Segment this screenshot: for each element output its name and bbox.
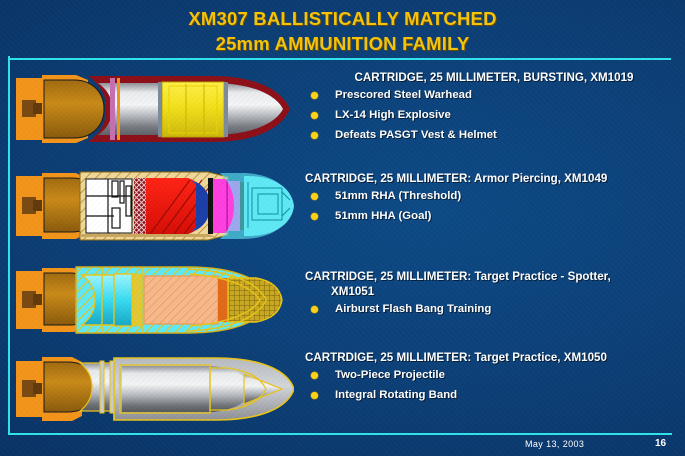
bullet-text: LX-14 High Explosive xyxy=(335,109,451,121)
text-block-xm1051: CARTRIDGE, 25 MILLIMETER: Target Practic… xyxy=(305,269,683,319)
bullet-dot-icon xyxy=(311,112,318,119)
page-title: XM307 BALLISTICALLY MATCHED 25mm AMMUNIT… xyxy=(0,6,685,56)
bullet-text: Airburst Flash Bang Training xyxy=(335,303,491,315)
heading-xm1050-line1: CARTRDIGE, 25 MILLIMETER: Target Practic… xyxy=(305,351,607,364)
divider-bottom-horizontal xyxy=(8,433,672,435)
text-block-xm1050: CARTRDIGE, 25 MILLIMETER: Target Practic… xyxy=(305,350,683,405)
text-block-xm1049: CARTRIDGE, 25 MILLIMETER: Armor Piercing… xyxy=(305,171,683,226)
heading-xm1019-line1: CARTRIDGE, 25 MILLIMETER, BURSTING, XM10… xyxy=(355,71,634,84)
bullet-text: Two-Piece Projectile xyxy=(335,369,445,381)
heading-xm1051-line1: CARTRIDGE, 25 MILLIMETER: Target Practic… xyxy=(305,270,611,283)
bullet-dot-icon xyxy=(311,392,318,399)
bullet-list-xm1019: Prescored Steel Warhead LX-14 High Explo… xyxy=(305,85,683,145)
cartridge-xm1050-target-practice xyxy=(14,355,294,423)
bullet-text: 51mm HHA (Goal) xyxy=(335,210,431,222)
bullet-text: 51mm RHA (Threshold) xyxy=(335,190,461,202)
cartridge-xm1019-bursting xyxy=(14,72,294,146)
bullet-list-xm1051: Airburst Flash Bang Training xyxy=(305,299,683,319)
list-item: Airburst Flash Bang Training xyxy=(305,299,683,319)
heading-xm1049-line1: CARTRIDGE, 25 MILLIMETER: Armor Piercing… xyxy=(305,172,607,185)
text-block-xm1019: CARTRIDGE, 25 MILLIMETER, BURSTING, XM10… xyxy=(305,70,683,145)
cartridge-1-drawing xyxy=(14,72,294,146)
bullet-dot-icon xyxy=(311,306,318,313)
bullet-list-xm1049: 51mm RHA (Threshold) 51mm HHA (Goal) xyxy=(305,186,683,226)
list-item: Defeats PASGT Vest & Helmet xyxy=(305,125,683,145)
title-line-2: 25mm AMMUNITION FAMILY xyxy=(0,31,685,56)
divider-left-vertical xyxy=(8,56,10,434)
bullet-dot-icon xyxy=(311,213,318,220)
cartridge-xm1049-armor-piercing xyxy=(14,170,294,242)
bullet-text: Integral Rotating Band xyxy=(335,389,457,401)
heading-xm1051: CARTRIDGE, 25 MILLIMETER: Target Practic… xyxy=(305,269,683,299)
cartridge-3-drawing xyxy=(14,265,294,335)
list-item: Two-Piece Projectile xyxy=(305,365,683,385)
list-item: LX-14 High Explosive xyxy=(305,105,683,125)
heading-xm1019: CARTRIDGE, 25 MILLIMETER, BURSTING, XM10… xyxy=(305,70,683,85)
slide-canvas: XM307 BALLISTICALLY MATCHED 25mm AMMUNIT… xyxy=(0,0,685,456)
bullet-dot-icon xyxy=(311,372,318,379)
footer-page-number: 16 xyxy=(655,438,666,449)
heading-xm1049: CARTRIDGE, 25 MILLIMETER: Armor Piercing… xyxy=(305,171,683,186)
title-line-1: XM307 BALLISTICALLY MATCHED xyxy=(188,8,496,29)
cartridge-xm1051-target-practice-spotter xyxy=(14,265,294,335)
bullet-dot-icon xyxy=(311,132,318,139)
footer-date: May 13, 2003 xyxy=(525,439,584,449)
bullet-list-xm1050: Two-Piece Projectile Integral Rotating B… xyxy=(305,365,683,405)
list-item: Integral Rotating Band xyxy=(305,385,683,405)
bullet-text: Prescored Steel Warhead xyxy=(335,89,472,101)
bullet-dot-icon xyxy=(311,92,318,99)
list-item: 51mm RHA (Threshold) xyxy=(305,186,683,206)
list-item: 51mm HHA (Goal) xyxy=(305,206,683,226)
list-item: Prescored Steel Warhead xyxy=(305,85,683,105)
cartridge-2-drawing xyxy=(14,170,294,242)
bullet-text: Defeats PASGT Vest & Helmet xyxy=(335,129,497,141)
divider-top-horizontal xyxy=(10,58,671,60)
heading-xm1050: CARTRDIGE, 25 MILLIMETER: Target Practic… xyxy=(305,350,683,365)
heading-xm1051-line2: XM1051 xyxy=(305,284,683,299)
cartridge-4-drawing xyxy=(14,355,294,423)
bullet-dot-icon xyxy=(311,193,318,200)
